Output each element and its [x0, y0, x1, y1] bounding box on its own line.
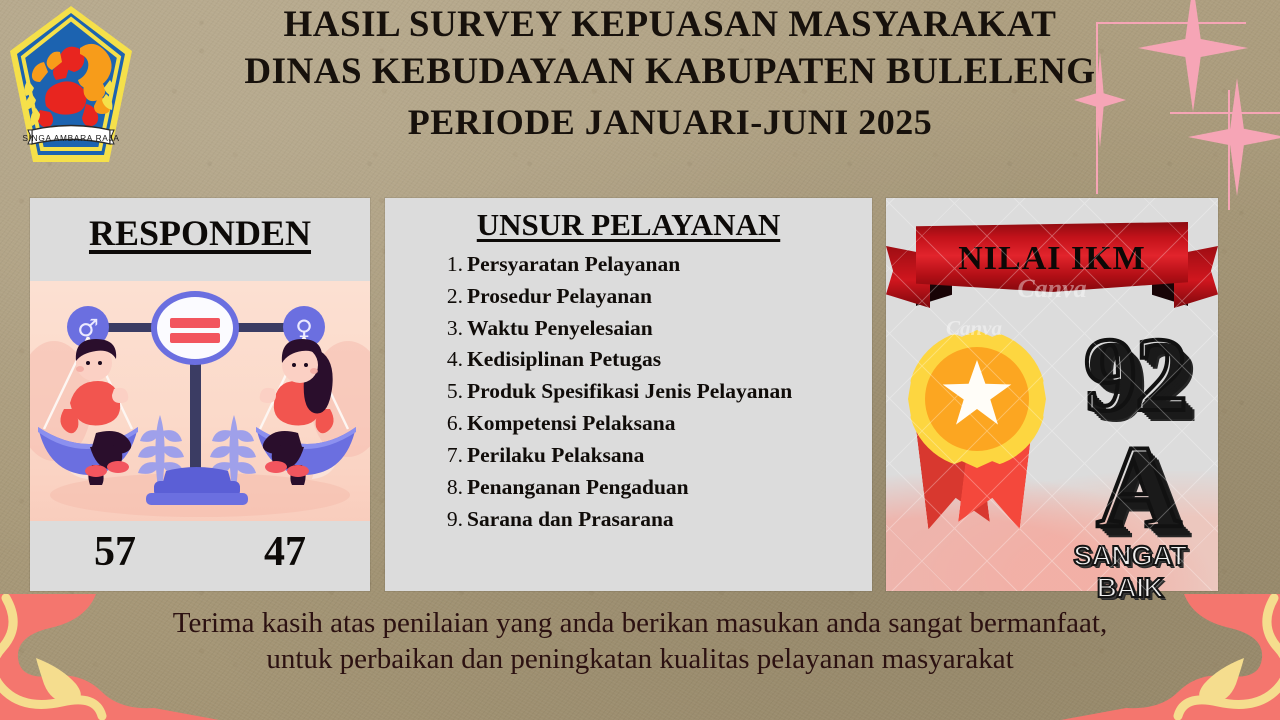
unsur-item-number: 1.: [437, 249, 463, 281]
ikm-score-value: 92: [1052, 316, 1218, 436]
nilai-ikm-title: NILAI IKM: [886, 240, 1218, 278]
unsur-item-label: Penanganan Pengaduan: [467, 475, 689, 499]
medal-rosette: [908, 330, 1046, 468]
unsur-list-item: 8.Penanganan Pengaduan: [437, 472, 872, 504]
page-title-line-1: HASIL SURVEY KEPUASAN MASYARAKAT: [150, 6, 1190, 44]
unsur-item-label: Persyaratan Pelayanan: [467, 252, 680, 276]
unsur-item-label: Sarana dan Prasarana: [467, 507, 674, 531]
unsur-list: 1.Persyaratan Pelayanan2.Prosedur Pelaya…: [385, 249, 872, 535]
ikm-grade-label: SANGAT BAIK: [1042, 540, 1218, 604]
footer-line-2: untuk perbaikan dan peningkatan kualitas…: [0, 642, 1280, 676]
unsur-item-number: 6.: [437, 408, 463, 440]
unsur-list-item: 2.Prosedur Pelayanan: [437, 281, 872, 313]
gender-balance-illustration: ♂ ♀: [30, 281, 370, 521]
unsur-list-item: 4.Kedisiplinan Petugas: [437, 344, 872, 376]
unsur-item-label: Prosedur Pelayanan: [467, 284, 652, 308]
unsur-item-number: 2.: [437, 281, 463, 313]
footer-band: Terima kasih atas penilaian yang anda be…: [0, 600, 1280, 720]
female-count: 47: [200, 521, 370, 591]
unsur-list-item: 9.Sarana dan Prasarana: [437, 504, 872, 536]
unsur-list-item: 3.Waktu Penyelesaian: [437, 313, 872, 345]
male-count: 57: [30, 521, 200, 591]
unsur-item-label: Waktu Penyelesaian: [467, 316, 653, 340]
unsur-item-label: Kedisiplinan Petugas: [467, 347, 661, 371]
card-row: RESPONDEN: [0, 198, 1280, 596]
unsur-item-number: 9.: [437, 504, 463, 536]
unsur-list-item: 1.Persyaratan Pelayanan: [437, 249, 872, 281]
nilai-ikm-card: NILAI IKM Canva Canva 92 A SANGAT BAIK: [886, 198, 1218, 591]
responden-title: RESPONDEN: [30, 198, 370, 254]
poster-title-block: HASIL SURVEY KEPUASAN MASYARAKAT DINAS K…: [150, 6, 1190, 184]
unsur-pelayanan-card: UNSUR PELAYANAN 1.Persyaratan Pelayanan2…: [385, 198, 872, 591]
unsur-list-item: 7.Perilaku Pelaksana: [437, 440, 872, 472]
kabupaten-buleleng-logo: SINGA AMBARA RAJA: [6, 2, 136, 178]
unsur-title: UNSUR PELAYANAN: [385, 198, 872, 243]
respondent-counts: 57 47: [30, 521, 370, 591]
unsur-item-number: 5.: [437, 376, 463, 408]
footer-message: Terima kasih atas penilaian yang anda be…: [0, 606, 1280, 676]
unsur-item-label: Perilaku Pelaksana: [467, 443, 644, 467]
infographic-poster: SINGA AMBARA RAJA HASIL SURVEY KEPUASAN …: [0, 0, 1280, 720]
responden-card: RESPONDEN: [30, 198, 370, 591]
unsur-item-label: Produk Spesifikasi Jenis Pelayanan: [467, 379, 792, 403]
unsur-list-item: 6.Kompetensi Pelaksana: [437, 408, 872, 440]
unsur-item-number: 7.: [437, 440, 463, 472]
award-medal-icon: [900, 326, 1052, 544]
page-title-line-2: DINAS KEBUDAYAAN KABUPATEN BULELENG: [150, 53, 1190, 91]
unsur-item-number: 3.: [437, 313, 463, 345]
footer-line-1: Terima kasih atas penilaian yang anda be…: [0, 606, 1280, 640]
unsur-item-label: Kompetensi Pelaksana: [467, 411, 675, 435]
sparkle-star-icon: [1188, 78, 1280, 196]
ikm-grade-letter: A: [1064, 426, 1214, 546]
page-title-line-3: PERIODE JANUARI-JUNI 2025: [150, 104, 1190, 141]
sparkle-hairline: [1228, 90, 1230, 210]
unsur-list-item: 5.Produk Spesifikasi Jenis Pelayanan: [437, 376, 872, 408]
unsur-item-number: 4.: [437, 344, 463, 376]
ribbon-banner: NILAI IKM Canva: [886, 216, 1218, 321]
unsur-item-number: 8.: [437, 472, 463, 504]
logo-banner-text: SINGA AMBARA RAJA: [22, 133, 119, 143]
